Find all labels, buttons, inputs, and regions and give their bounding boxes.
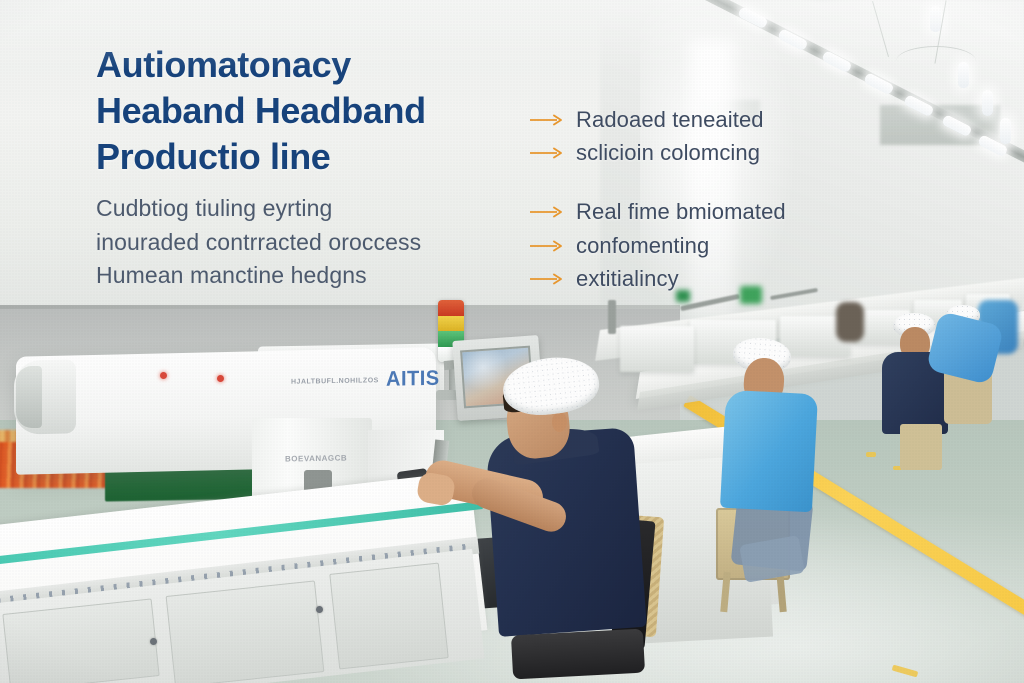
ceiling-lamp <box>930 6 941 32</box>
worker-stool <box>900 424 942 470</box>
machine-indicator-led <box>217 375 224 382</box>
machine-nose-cap <box>16 366 42 428</box>
floor-marking <box>866 452 876 457</box>
ceiling-lamp <box>982 90 993 116</box>
worker-torso <box>720 390 818 513</box>
cabinet-door[interactable] <box>329 563 448 670</box>
background-green-indicator <box>740 286 762 304</box>
background-green-indicator <box>676 290 690 302</box>
signal-light-red <box>438 300 464 316</box>
hero-image: HJALTBUFL.NOHILZOS AITIS BOEVANAGCB <box>0 0 1024 683</box>
machine-brand-logo-text: AITIS <box>386 367 440 392</box>
background-machine <box>620 326 694 372</box>
machine-brand-lower-text: BOEVANAGCB <box>285 453 347 463</box>
worker-ear <box>552 412 567 432</box>
signal-light-amber <box>438 316 464 332</box>
cabinet-door[interactable] <box>166 580 325 683</box>
background-machine-post <box>608 300 616 334</box>
machine-indicator-led <box>160 372 167 379</box>
cabinet-door[interactable] <box>2 598 159 683</box>
background-worker-silhouette <box>836 302 864 342</box>
ceiling-lamp <box>1000 118 1011 144</box>
cabinet-latch[interactable] <box>150 638 157 645</box>
cabinet-latch[interactable] <box>316 606 323 613</box>
window-glow-column <box>690 40 734 320</box>
ceiling-cable-loop <box>896 46 976 76</box>
chair-seat <box>511 629 645 680</box>
